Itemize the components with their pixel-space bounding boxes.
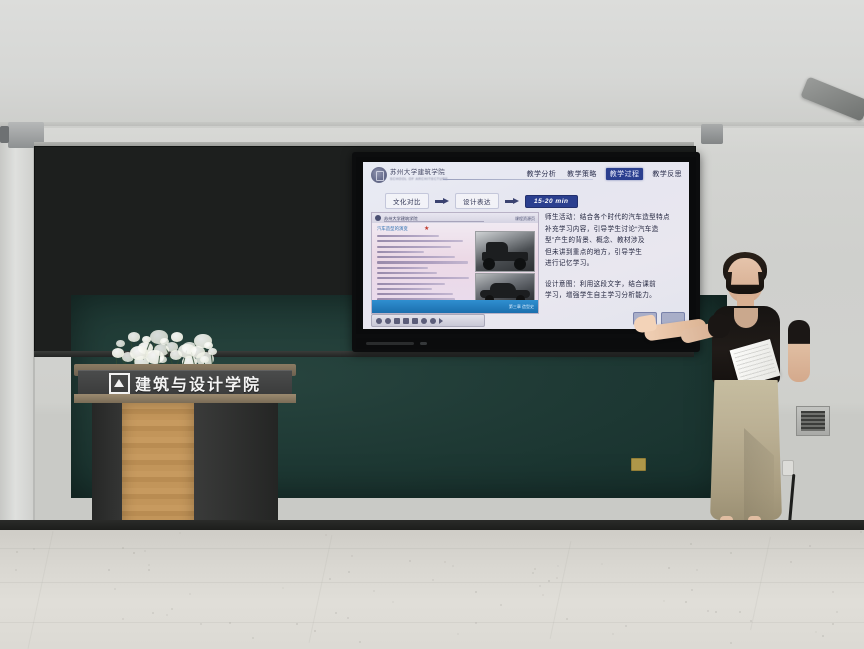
document-text-line: [377, 246, 451, 248]
star-icon: ★: [424, 225, 429, 232]
floor-speckle: [500, 604, 502, 606]
floor-speckle: [663, 600, 665, 602]
podium-sign: 建筑与设计学院: [78, 370, 292, 396]
floor-speckle: [691, 589, 693, 591]
document-text-line: [377, 256, 455, 258]
document-text-line: [377, 277, 469, 279]
slide-tab-bar[interactable]: 教学分析 教学策略 教学过程 教学反思: [525, 168, 684, 180]
floor-speckle: [532, 572, 534, 574]
floor-speckle: [409, 560, 411, 562]
tab-teaching-strategy[interactable]: 教学策略: [565, 168, 599, 180]
tab-teaching-reflection[interactable]: 教学反思: [650, 168, 684, 180]
tab-teaching-process[interactable]: 教学过程: [606, 168, 644, 180]
floor-speckle: [229, 622, 231, 624]
display-screen[interactable]: 苏州大学建筑学院 SCHOOL OF ARCHITECTURE 教学分析 教学策…: [356, 157, 696, 334]
institution-name-cn: 苏州大学建筑学院: [390, 169, 448, 176]
floor-speckle: [347, 617, 349, 619]
slide-header: 苏州大学建筑学院 SCHOOL OF ARCHITECTURE 教学分析 教学策…: [363, 162, 689, 188]
lily-bloom: [116, 340, 125, 347]
floor-speckle: [475, 622, 477, 624]
floor-speckle: [668, 567, 670, 569]
highlighter-icon[interactable]: [403, 318, 409, 324]
pen-icon[interactable]: [394, 318, 400, 324]
floor-speckle: [715, 611, 717, 613]
floor-speckle: [179, 532, 181, 534]
settings-icon[interactable]: [430, 318, 436, 324]
floor-speckle: [685, 601, 687, 603]
embedded-document-panel[interactable]: 苏州大学建筑学院 课程资源页 汽车造型的演变 ★: [371, 212, 539, 314]
play-icon[interactable]: [376, 318, 382, 324]
floor-speckle: [189, 593, 191, 595]
wall-mount-bracket-icon: [701, 124, 723, 144]
floor-speckle: [836, 611, 838, 613]
floor-speckle: [148, 564, 150, 566]
floor-speckle: [314, 630, 316, 632]
floor-speckle: [539, 585, 541, 587]
floor-speckle: [809, 545, 811, 547]
document-text-line: [377, 283, 445, 285]
electrical-panel: [796, 406, 830, 436]
intent-line-1: 设计意图：利用这段文字，结合课前: [545, 279, 681, 291]
floor-speckle: [392, 601, 394, 603]
lily-bloom: [112, 348, 124, 358]
classroom-photo: 苏州大学建筑学院 SCHOOL OF ARCHITECTURE 教学分析 教学策…: [0, 0, 864, 649]
document-text-line: [377, 293, 453, 295]
floor-speckle: [832, 623, 834, 625]
tab-teaching-analysis[interactable]: 教学分析: [525, 168, 559, 180]
floor-speckle: [252, 637, 254, 639]
floor-speckle: [707, 610, 709, 612]
lily-bloom: [166, 342, 178, 352]
podium-lip: [74, 394, 296, 403]
document-header-bar: 苏州大学建筑学院 课程资源页: [372, 213, 538, 223]
floor-speckle: [200, 623, 202, 625]
floor-speckle: [815, 631, 817, 633]
floor-speckle: [739, 611, 741, 613]
floor-speckle: [696, 569, 698, 571]
floor-speckle: [534, 568, 536, 570]
floor-socket: [631, 458, 646, 471]
floor-speckle: [730, 552, 732, 554]
document-text-line: [377, 272, 437, 274]
process-flow-row: 文化对比 设计表达 15-20 min: [385, 193, 578, 209]
arrow-right-icon: [435, 198, 449, 204]
lily-bloom: [171, 332, 183, 342]
floor-speckle: [33, 548, 35, 550]
wall-pillar: [0, 126, 34, 526]
floor-speckle: [557, 565, 559, 567]
floor-speckle: [832, 591, 834, 593]
institution-logo: 苏州大学建筑学院 SCHOOL OF ARCHITECTURE: [371, 167, 448, 183]
document-footer: 第三章 造型史: [372, 300, 538, 313]
lily-bloom: [128, 332, 140, 342]
slide-tool-bar[interactable]: [371, 314, 485, 327]
floor-speckle: [475, 591, 477, 593]
floor-speckle: [351, 555, 353, 557]
ceiling: [0, 0, 864, 128]
floor-tile-seam: [0, 582, 864, 583]
floor-speckle: [166, 614, 168, 616]
floor-speckle: [601, 563, 603, 565]
activity-line-4: 但未讲到重点的地方，引导学生: [545, 247, 681, 259]
comment-icon[interactable]: [421, 318, 427, 324]
image-icon[interactable]: [412, 318, 418, 324]
floor-speckle: [122, 618, 124, 620]
floor-speckle: [148, 569, 150, 571]
intent-line-2: 学习，增强学生自主学习分析能力。: [545, 290, 681, 302]
document-title: 汽车造型的演变: [377, 226, 408, 232]
presenter-right-arm: [788, 320, 810, 382]
floor-speckle: [152, 612, 154, 614]
activity-line-3: 型”产生的背景、概念、教材涉及: [545, 235, 681, 247]
floor-speckle: [457, 633, 459, 635]
document-text-line: [377, 251, 424, 253]
floor-speckle: [144, 550, 146, 552]
floor-speckle: [373, 590, 375, 592]
document-header-right: 课程资源页: [515, 216, 535, 222]
doc-logo-icon: [375, 215, 381, 221]
floor-speckle: [171, 608, 173, 610]
floor-speckle: [432, 579, 434, 581]
floor-speckle: [750, 620, 752, 622]
next-icon[interactable]: [439, 318, 443, 324]
activity-line-5: 进行记忆学习。: [545, 258, 681, 270]
floor-speckle: [444, 561, 446, 563]
ceiling-edge-line: [0, 122, 864, 126]
floor-tile-seam: [750, 537, 771, 630]
paragraph-spacer: [545, 270, 681, 279]
presentation-slide[interactable]: 苏州大学建筑学院 SCHOOL OF ARCHITECTURE 教学分析 教学策…: [363, 162, 689, 329]
lily-bloom: [208, 348, 217, 355]
triangle-mark-icon: [109, 373, 130, 394]
floor-speckle: [542, 594, 544, 596]
floor-tile-seam: [0, 622, 864, 623]
floor-speckle: [114, 588, 116, 590]
floor-speckle: [15, 569, 17, 571]
floor-speckle: [108, 569, 110, 571]
flow-step-2: 设计表达: [455, 193, 499, 209]
floor-speckle: [625, 625, 627, 627]
floor-speckle: [122, 547, 124, 549]
floor-tile-seam: [0, 548, 864, 549]
floor-speckle: [16, 551, 18, 553]
floor-tile-seam: [309, 535, 333, 643]
presenter-left-sleeve: [708, 314, 730, 338]
floor-speckle: [730, 642, 732, 644]
flow-step-1: 文化对比: [385, 193, 429, 209]
floor-speckle: [452, 565, 454, 567]
document-text-line: [377, 261, 468, 263]
floor-speckle: [822, 635, 824, 637]
floor-speckle: [548, 580, 550, 582]
podium-sign-text: 建筑与设计学院: [135, 371, 261, 395]
slide-text-panel: 师生活动：结合各个时代的汽车造型特点 补充学习内容，引导学生讨论“汽车造 型”产…: [545, 212, 681, 302]
floor-speckle: [690, 543, 692, 545]
floor-speckle: [348, 571, 350, 573]
floor-speckle: [282, 587, 284, 589]
activity-line-2: 补充学习内容，引导学生讨论“汽车造: [545, 224, 681, 236]
flow-duration-badge: 15-20 min: [525, 195, 578, 208]
document-text-line: [377, 235, 439, 237]
document-text-line: [377, 267, 428, 269]
university-seal-icon: [371, 167, 387, 183]
floor-speckle: [566, 618, 568, 620]
display-chin-bar: [356, 338, 696, 349]
early-automobile-photo: [475, 231, 535, 272]
document-text-line: [377, 240, 463, 242]
document-body-text: [377, 235, 477, 304]
floor-speckle: [860, 531, 862, 533]
floor-speckle: [335, 612, 337, 614]
document-footer-text: 第三章 造型史: [509, 304, 534, 310]
floor-tile-seam: [550, 541, 572, 639]
floor-speckle: [612, 633, 614, 635]
floor-speckle: [790, 561, 792, 563]
activity-line-1: 师生活动：结合各个时代的汽车造型特点: [545, 212, 681, 224]
floor-speckle: [325, 534, 327, 536]
floor-speckle: [556, 577, 558, 579]
floor-speckle: [133, 552, 135, 554]
floor-speckle: [329, 578, 331, 580]
document-header-rule: [384, 221, 484, 222]
classroom-floor: [0, 530, 864, 649]
floor-speckle: [359, 641, 361, 643]
document-text-line: [377, 288, 432, 290]
pause-icon[interactable]: [385, 318, 391, 324]
arrow-right-icon: [505, 198, 519, 204]
institution-name-en: SCHOOL OF ARCHITECTURE: [390, 177, 448, 181]
floor-speckle: [296, 623, 298, 625]
